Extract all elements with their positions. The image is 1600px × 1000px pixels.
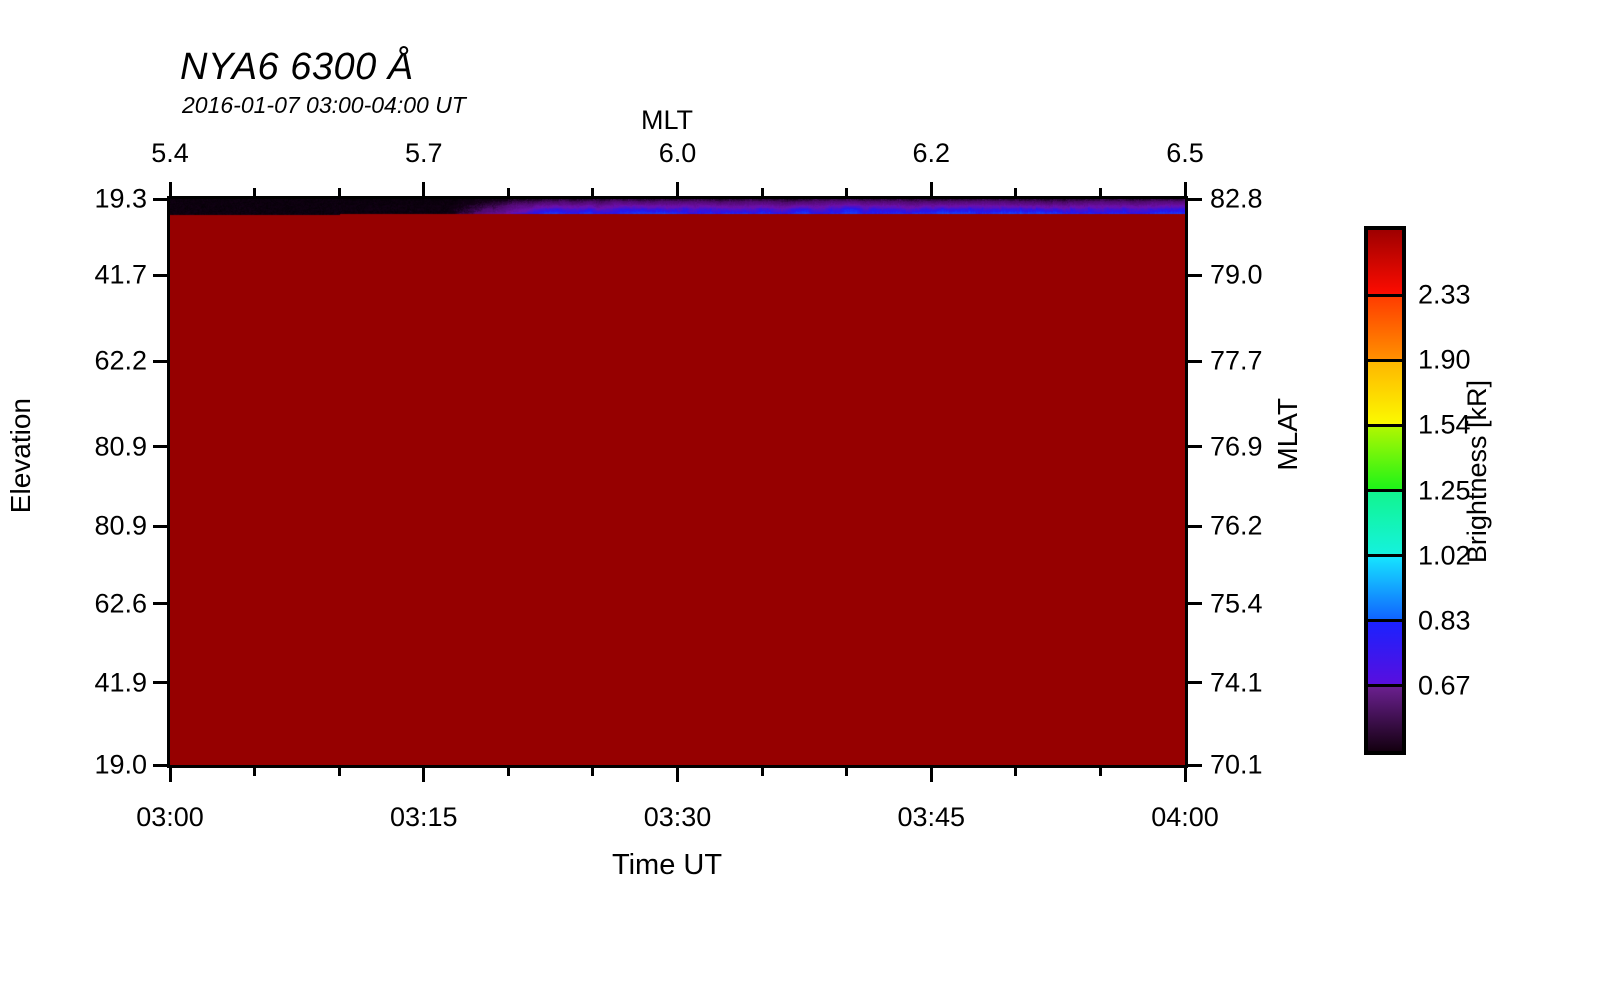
tick-left bbox=[153, 360, 170, 363]
mlat-tick-label: 82.8 bbox=[1210, 184, 1263, 215]
tick-right bbox=[1185, 764, 1202, 767]
colorbar-tick-label: 1.90 bbox=[1418, 345, 1471, 376]
colorbar-tick-label: 1.02 bbox=[1418, 540, 1471, 571]
keogram-plot-area bbox=[167, 196, 1188, 768]
x-tick-label: 03:30 bbox=[644, 802, 712, 833]
tick-top-minor bbox=[845, 188, 848, 199]
tick-top-minor bbox=[507, 188, 510, 199]
colorbar-divider bbox=[1368, 554, 1402, 557]
elevation-tick-label: 62.6 bbox=[17, 588, 147, 619]
bottom-axis-title: Time UT bbox=[612, 849, 722, 882]
top-axis-title: MLT bbox=[641, 105, 693, 136]
colorbar-tick-label: 1.54 bbox=[1418, 410, 1471, 441]
tick-bottom-minor bbox=[253, 766, 256, 776]
x-tick-label: 03:00 bbox=[136, 802, 204, 833]
tick-right bbox=[1185, 525, 1202, 528]
mlat-tick-label: 74.1 bbox=[1210, 667, 1263, 698]
tick-right bbox=[1185, 360, 1202, 363]
colorbar-band bbox=[1368, 491, 1402, 556]
keogram-figure: NYA6 6300 Å 2016-01-07 03:00-04:00 UT ML… bbox=[0, 0, 1600, 1000]
tick-left bbox=[153, 681, 170, 684]
tick-left bbox=[153, 525, 170, 528]
colorbar-band bbox=[1368, 360, 1402, 425]
tick-bottom-major bbox=[930, 766, 933, 782]
tick-bottom-minor bbox=[761, 766, 764, 776]
colorbar-divider bbox=[1368, 619, 1402, 622]
tick-left bbox=[153, 274, 170, 277]
colorbar-tick-label: 2.33 bbox=[1418, 280, 1471, 311]
mlat-tick-label: 77.7 bbox=[1210, 346, 1263, 377]
colorbar bbox=[1364, 226, 1406, 755]
tick-bottom-minor bbox=[845, 766, 848, 776]
tick-top-minor bbox=[591, 188, 594, 199]
page-title: NYA6 6300 Å bbox=[180, 46, 414, 89]
tick-bottom-minor bbox=[591, 766, 594, 776]
tick-left bbox=[153, 602, 170, 605]
elevation-tick-label: 80.9 bbox=[17, 431, 147, 462]
tick-bottom-major bbox=[422, 766, 425, 782]
elevation-tick-label: 41.9 bbox=[17, 667, 147, 698]
page-subtitle: 2016-01-07 03:00-04:00 UT bbox=[182, 92, 466, 119]
colorbar-tick-label: 0.83 bbox=[1418, 605, 1471, 636]
mlt-tick-label: 5.4 bbox=[151, 138, 189, 169]
elevation-tick-label: 19.0 bbox=[17, 750, 147, 781]
x-tick-label: 04:00 bbox=[1151, 802, 1219, 833]
colorbar-band bbox=[1368, 556, 1402, 621]
colorbar-divider bbox=[1368, 489, 1402, 492]
tick-top-major bbox=[676, 182, 679, 199]
x-tick-label: 03:45 bbox=[897, 802, 965, 833]
keogram-canvas bbox=[170, 199, 1185, 765]
tick-top-major bbox=[169, 182, 172, 199]
colorbar-band bbox=[1368, 295, 1402, 360]
tick-left bbox=[153, 198, 170, 201]
tick-left bbox=[153, 445, 170, 448]
elevation-tick-label: 62.2 bbox=[17, 346, 147, 377]
elevation-tick-label: 80.9 bbox=[17, 511, 147, 542]
mlat-tick-label: 75.4 bbox=[1210, 588, 1263, 619]
mlt-tick-label: 6.2 bbox=[912, 138, 950, 169]
mlat-tick-label: 79.0 bbox=[1210, 260, 1263, 291]
tick-bottom-major bbox=[169, 766, 172, 782]
tick-top-minor bbox=[1099, 188, 1102, 199]
colorbar-tick-label: 0.67 bbox=[1418, 670, 1471, 701]
tick-right bbox=[1185, 602, 1202, 605]
mlat-tick-label: 70.1 bbox=[1210, 750, 1263, 781]
colorbar-divider bbox=[1368, 359, 1402, 362]
tick-bottom-minor bbox=[1099, 766, 1102, 776]
colorbar-band bbox=[1368, 686, 1402, 751]
x-tick-label: 03:15 bbox=[390, 802, 458, 833]
tick-bottom-major bbox=[676, 766, 679, 782]
elevation-tick-label: 41.7 bbox=[17, 260, 147, 291]
colorbar-band bbox=[1368, 621, 1402, 686]
mlt-tick-label: 6.0 bbox=[659, 138, 697, 169]
colorbar-divider bbox=[1368, 424, 1402, 427]
tick-bottom-minor bbox=[507, 766, 510, 776]
tick-right bbox=[1185, 445, 1202, 448]
colorbar-tick-label: 1.25 bbox=[1418, 475, 1471, 506]
tick-top-major bbox=[1184, 182, 1187, 199]
tick-bottom-minor bbox=[1014, 766, 1017, 776]
elevation-tick-label: 19.3 bbox=[17, 184, 147, 215]
tick-right bbox=[1185, 274, 1202, 277]
colorbar-band bbox=[1368, 230, 1402, 295]
tick-top-major bbox=[422, 182, 425, 199]
colorbar-divider bbox=[1368, 294, 1402, 297]
tick-top-minor bbox=[338, 188, 341, 199]
tick-right bbox=[1185, 681, 1202, 684]
tick-bottom-major bbox=[1184, 766, 1187, 782]
tick-top-minor bbox=[761, 188, 764, 199]
mlat-tick-label: 76.2 bbox=[1210, 511, 1263, 542]
tick-bottom-minor bbox=[338, 766, 341, 776]
tick-top-minor bbox=[1014, 188, 1017, 199]
tick-top-major bbox=[930, 182, 933, 199]
right-axis-title: MLAT bbox=[1272, 398, 1304, 471]
colorbar-band bbox=[1368, 425, 1402, 490]
tick-top-minor bbox=[253, 188, 256, 199]
mlt-tick-label: 6.5 bbox=[1166, 138, 1204, 169]
mlat-tick-label: 76.9 bbox=[1210, 431, 1263, 462]
tick-left bbox=[153, 764, 170, 767]
colorbar-title: Brightness [kR] bbox=[1462, 380, 1493, 563]
tick-right bbox=[1185, 198, 1202, 201]
colorbar-divider bbox=[1368, 684, 1402, 687]
mlt-tick-label: 5.7 bbox=[405, 138, 443, 169]
